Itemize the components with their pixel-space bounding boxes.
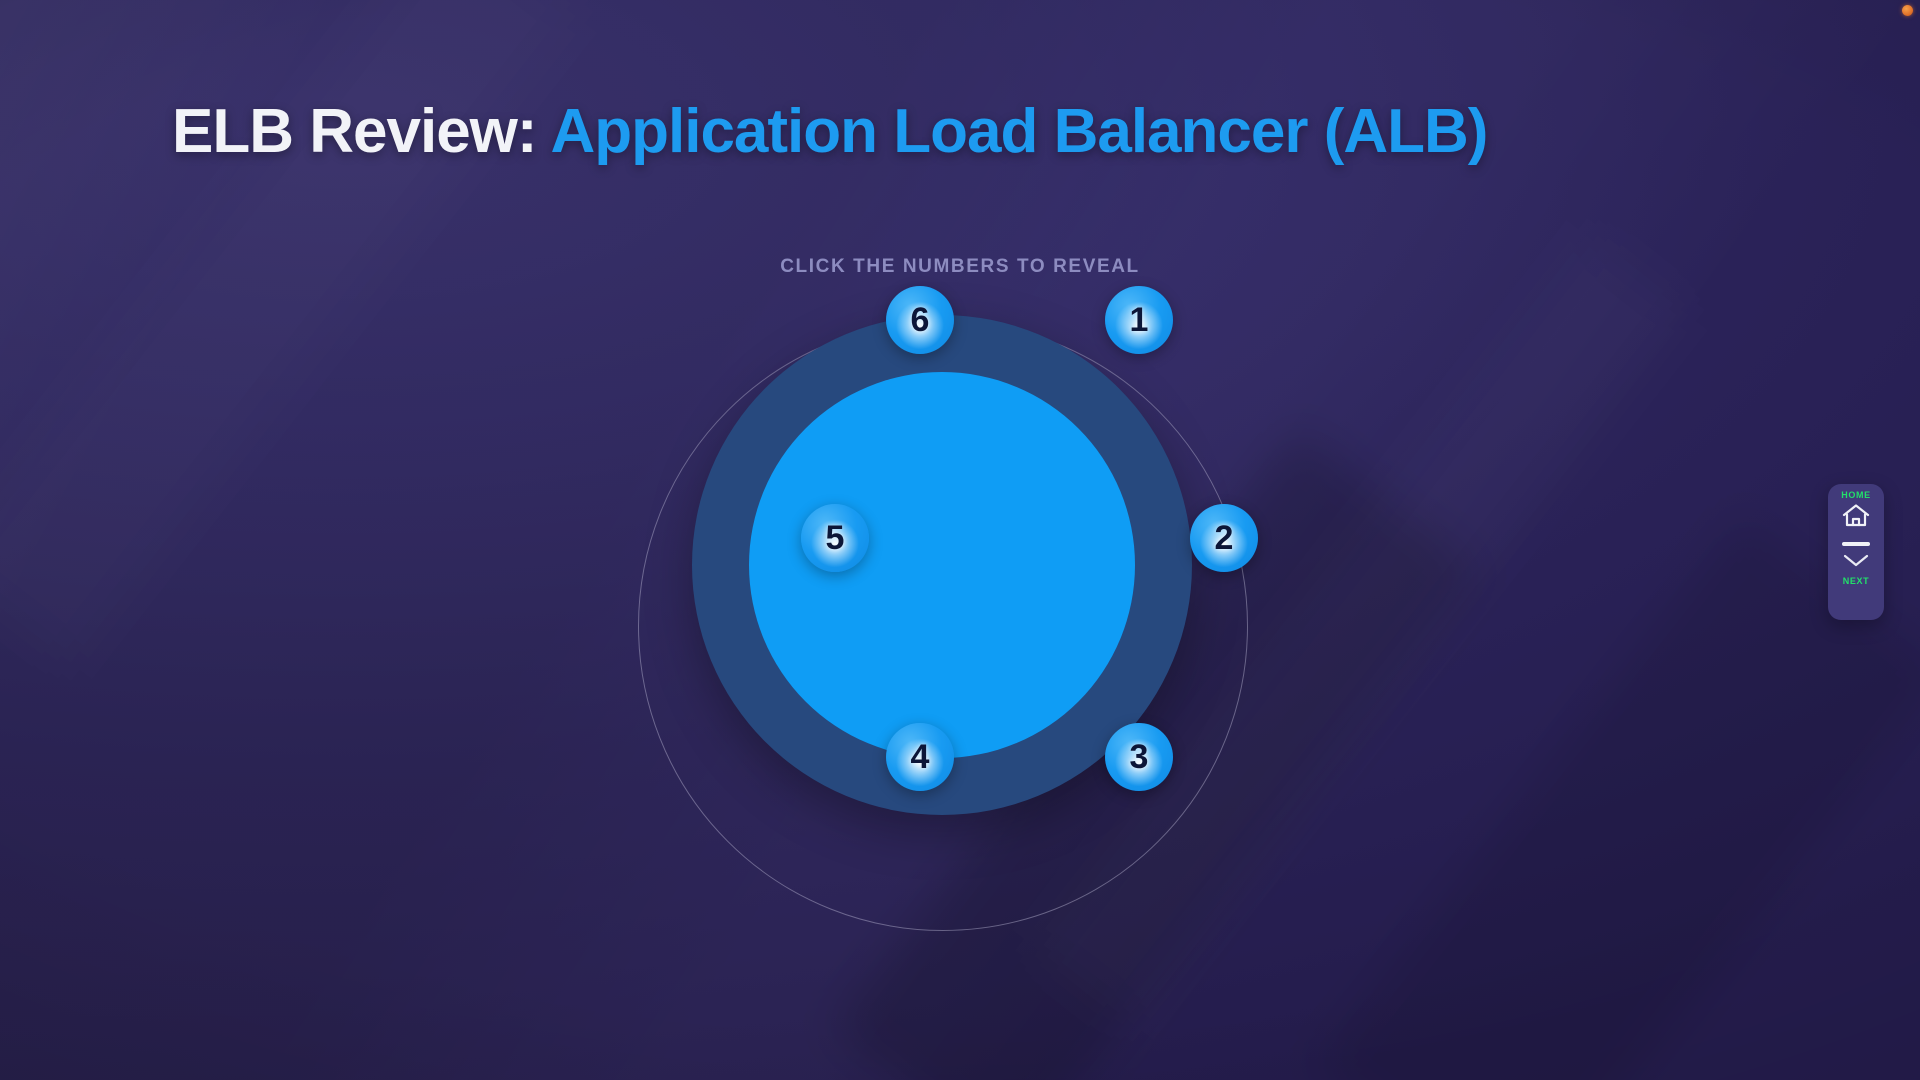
number-wheel: 1 2 3 4 5 6 bbox=[613, 296, 1273, 956]
number-node-2[interactable]: 2 bbox=[1190, 504, 1258, 572]
number-node-3[interactable]: 3 bbox=[1105, 723, 1173, 791]
page-title-main: ELB Review: bbox=[172, 97, 550, 166]
instruction-text: CLICK THE NUMBERS TO REVEAL bbox=[0, 256, 1920, 278]
number-node-4[interactable]: 4 bbox=[886, 723, 954, 791]
number-node-6[interactable]: 6 bbox=[886, 286, 954, 354]
nav-next-label: NEXT bbox=[1843, 575, 1869, 587]
number-node-5[interactable]: 5 bbox=[801, 504, 869, 572]
home-icon[interactable] bbox=[1841, 503, 1871, 533]
divider-bar bbox=[1842, 542, 1870, 546]
number-node-label: 5 bbox=[826, 519, 845, 558]
page-title: ELB Review: Application Load Balancer (A… bbox=[172, 96, 1487, 167]
number-node-label: 6 bbox=[911, 301, 930, 340]
number-node-label: 2 bbox=[1215, 519, 1234, 558]
number-node-label: 3 bbox=[1130, 738, 1149, 777]
status-indicator-dot bbox=[1902, 5, 1913, 16]
number-node-label: 1 bbox=[1130, 301, 1149, 340]
inner-disc bbox=[749, 372, 1135, 758]
nav-home-label: HOME bbox=[1841, 489, 1870, 501]
slide-canvas: ELB Review: Application Load Balancer (A… bbox=[0, 0, 1920, 1080]
navigation-panel: HOME NEXT bbox=[1828, 484, 1884, 620]
chevron-down-icon[interactable] bbox=[1841, 552, 1871, 574]
number-node-label: 4 bbox=[911, 738, 930, 777]
page-title-accent: Application Load Balancer (ALB) bbox=[550, 97, 1487, 166]
number-node-1[interactable]: 1 bbox=[1105, 286, 1173, 354]
